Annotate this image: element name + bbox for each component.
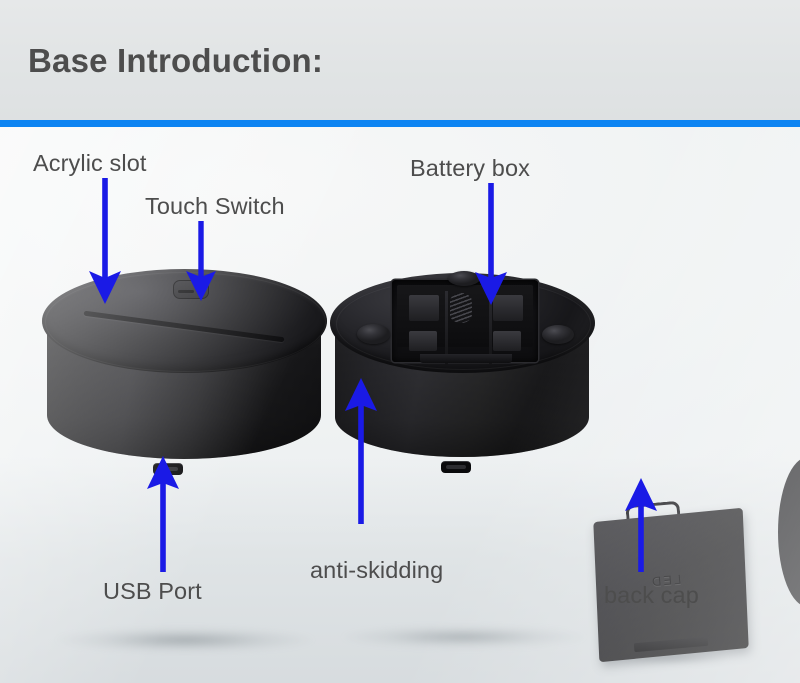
battery-cover-lip xyxy=(420,354,512,363)
callout-label-usb-port: USB Port xyxy=(103,578,202,605)
callout-arrow-usb-port xyxy=(146,456,180,572)
callout-arrow-acrylic-slot xyxy=(88,178,122,304)
header-band: Base Introduction: xyxy=(0,0,800,120)
underside-base-shadow xyxy=(340,625,588,649)
battery-compartment xyxy=(392,280,538,362)
battery-compartment-floor xyxy=(397,285,533,347)
usb-port-right xyxy=(441,461,471,473)
battery-contact xyxy=(409,331,437,351)
callout-label-battery-box: Battery box xyxy=(410,155,530,182)
callout-label-anti-skidding: anti-skidding xyxy=(310,557,443,584)
battery-spring xyxy=(450,293,472,323)
base-bottom-face xyxy=(330,273,595,373)
anti-skid-pad-right xyxy=(542,325,574,344)
assembled-base-unit xyxy=(42,269,327,509)
callout-arrow-back-cap xyxy=(624,478,658,572)
infographic-page: Base Introduction: xyxy=(0,0,800,683)
callout-label-back-cap: back cap xyxy=(604,582,699,609)
battery-contact xyxy=(409,295,439,321)
callout-arrow-battery-box xyxy=(474,183,508,305)
page-title: Base Introduction: xyxy=(28,42,323,80)
header-divider-bar xyxy=(0,120,800,127)
callout-arrow-touch-switch xyxy=(185,221,217,301)
callout-label-acrylic-slot: Acrylic slot xyxy=(33,150,147,177)
assembled-base-shadow xyxy=(54,627,316,653)
anti-skid-pad-left xyxy=(357,324,390,344)
callout-label-touch-switch: Touch Switch xyxy=(145,193,285,220)
battery-contact xyxy=(493,331,521,351)
callout-arrow-anti-skidding xyxy=(344,378,378,524)
